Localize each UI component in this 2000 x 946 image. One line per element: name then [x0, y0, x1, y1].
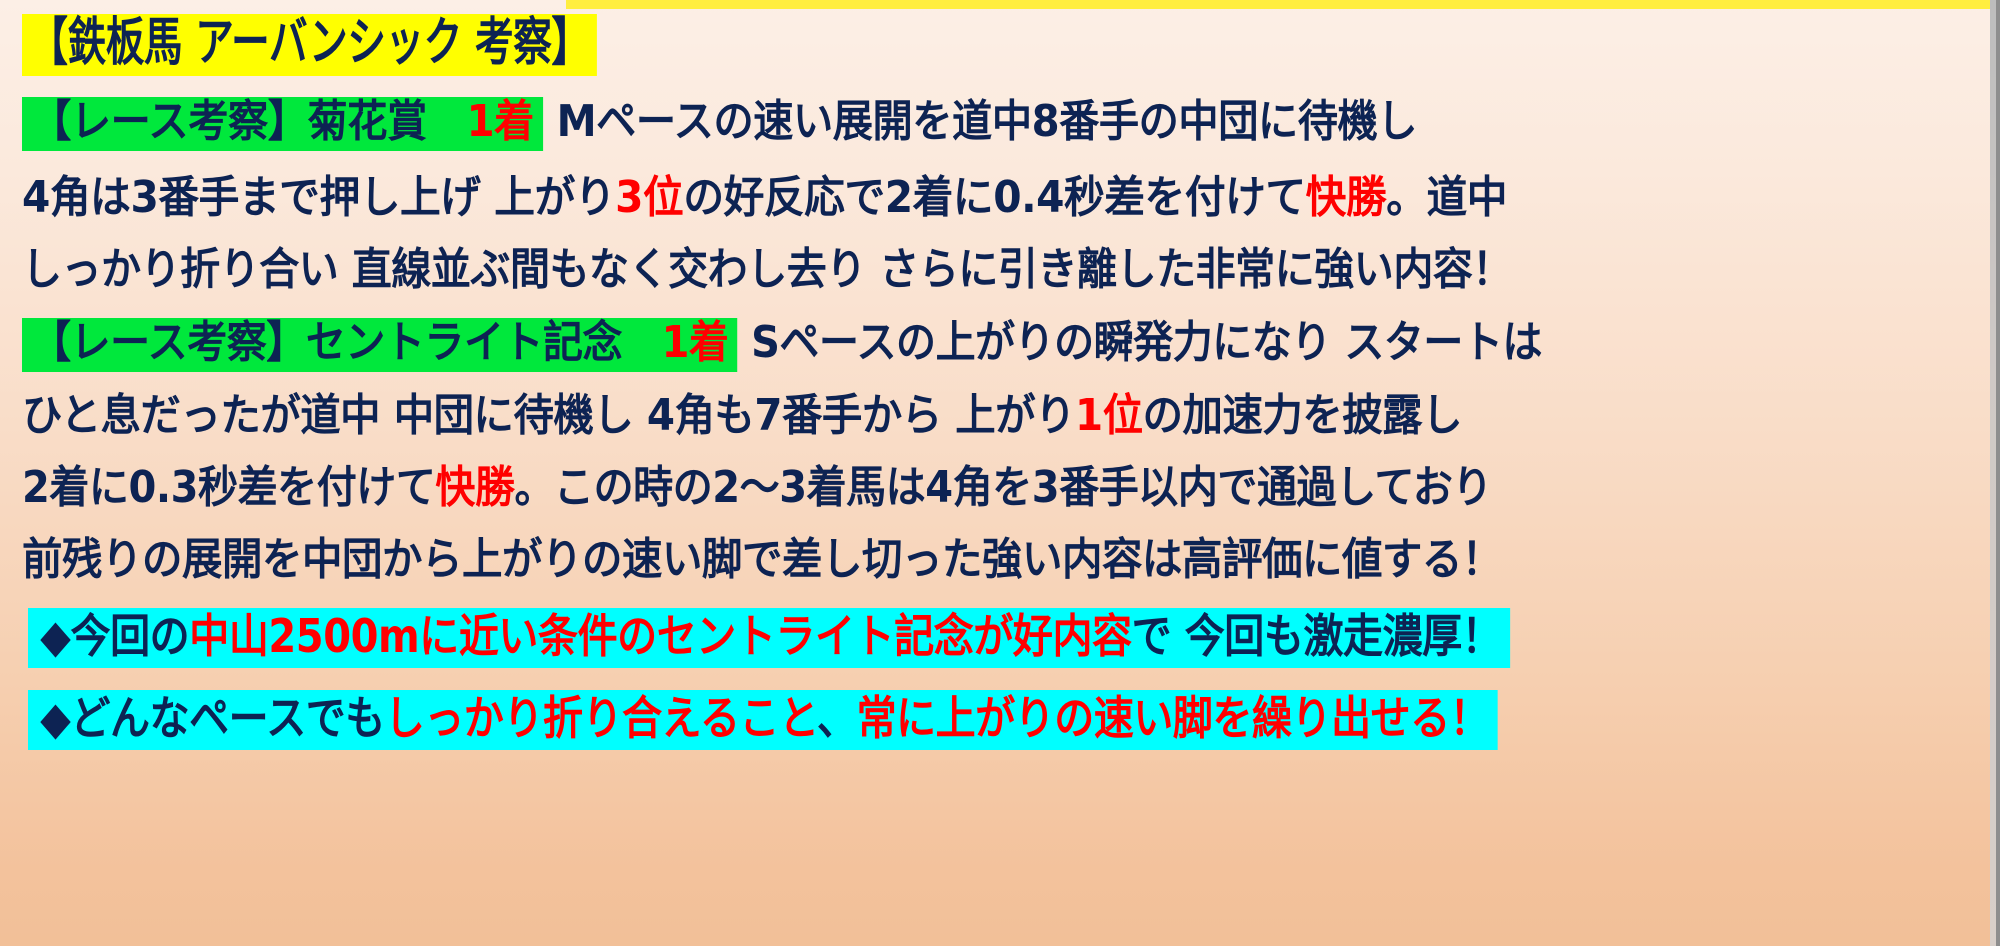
top-yellow-strip	[566, 0, 1990, 9]
race1-heading-highlight: 【レース考察】菊花賞 1着	[22, 97, 543, 151]
race2-heading-label: 【レース考察】セントライト記念	[31, 317, 662, 368]
race1-l2-b: の好反応で2着に0.4秒差を付けて	[683, 172, 1305, 223]
race2-heading-highlight: 【レース考察】セントライト記念 1着	[22, 318, 738, 372]
conclusion2-a: どんなペースでも	[70, 691, 384, 745]
conclusion2-b: しっかり折り合えること	[385, 691, 817, 745]
race2-heading-rank: 1着	[662, 317, 729, 368]
race1-l3: しっかり折り合い 直線並ぶ間もなく交わし去り さらに引き離した非常に強い内容！	[22, 244, 1512, 295]
race1-l2-win: 快勝	[1306, 172, 1387, 223]
race1-l2-c: 。道中	[1386, 172, 1507, 223]
race2-l2-rank: 1位	[1075, 390, 1143, 441]
title-highlight: 【鉄板馬 アーバンシック 考察】	[22, 14, 597, 76]
conclusion1-highlight: ◆今回の中山2500mに近い条件のセントライト記念が好内容で 今回も激走濃厚！	[28, 608, 1510, 668]
conclusion2-d: 常に上がりの速い脚を繰り出せる！	[857, 691, 1490, 745]
race1-heading-rank: 1着	[467, 96, 534, 147]
conclusion1-b: 中山2500mに近い条件のセントライト記念が好内容	[189, 609, 1131, 663]
diamond-marker-icon: ◆	[40, 609, 70, 663]
conclusion1-c: で 今回も激走濃厚！	[1132, 609, 1502, 663]
race2-heading-tail: Sペースの上がりの瞬発力になり スタートは	[738, 317, 1542, 368]
race1-heading-label: 【レース考察】菊花賞	[31, 96, 466, 147]
diamond-marker-icon-2: ◆	[40, 691, 70, 745]
race1-detail-line-2: しっかり折り合い 直線並ぶ間もなく交わし去り さらに引き離した非常に強い内容！	[22, 248, 1512, 292]
race2-heading-line: 【レース考察】セントライト記念 1着 Sペースの上がりの瞬発力になり スタートは	[22, 318, 1542, 372]
race2-detail-line-2: 2着に0.3秒差を付けて快勝。この時の2〜3着馬は4角を3番手以内で通過しており	[22, 466, 1492, 510]
race2-l3-b: 。この時の2〜3着馬は4角を3番手以内で通過しており	[514, 462, 1491, 513]
race1-heading-line: 【レース考察】菊花賞 1着 Mペースの速い展開を道中8番手の中団に待機し	[22, 97, 1417, 151]
race2-l2-a: ひと息だったが道中 中団に待機し 4角も7番手から 上がり	[22, 390, 1075, 441]
race2-detail-line-3: 前残りの展開を中団から上がりの速い脚で差し切った強い内容は高評価に値する！	[22, 538, 1502, 582]
race2-l2-b: の加速力を披露し	[1143, 390, 1462, 441]
poster-root: 【鉄板馬 アーバンシック 考察】 【レース考察】菊花賞 1着 Mペースの速い展開…	[0, 0, 2000, 946]
title-line: 【鉄板馬 アーバンシック 考察】	[22, 14, 597, 76]
conclusion1-a: 今回の	[71, 609, 190, 663]
conclusion2-c: 、	[817, 691, 857, 745]
conclusion-line-1: ◆今回の中山2500mに近い条件のセントライト記念が好内容で 今回も激走濃厚！	[28, 608, 1510, 668]
conclusion-line-2: ◆どんなペースでもしっかり折り合えること、常に上がりの速い脚を繰り出せる！	[28, 690, 1498, 750]
race2-detail-line-1: ひと息だったが道中 中団に待機し 4角も7番手から 上がり1位の加速力を披露し	[22, 394, 1462, 438]
title-text: 【鉄板馬 アーバンシック 考察】	[29, 13, 589, 73]
race2-l3-a: 2着に0.3秒差を付けて	[22, 462, 435, 513]
race1-l2-rank: 3位	[615, 172, 683, 223]
race2-l3-win: 快勝	[435, 462, 514, 513]
right-gray-edge	[1996, 0, 2000, 946]
race1-l2-a: 4角は3番手まで押し上げ 上がり	[22, 172, 615, 223]
conclusion2-highlight: ◆どんなペースでもしっかり折り合えること、常に上がりの速い脚を繰り出せる！	[28, 690, 1498, 750]
race1-heading-tail: Mペースの速い展開を道中8番手の中団に待機し	[543, 96, 1417, 147]
race1-detail-line-1: 4角は3番手まで押し上げ 上がり3位の好反応で2着に0.4秒差を付けて快勝。道中	[22, 176, 1507, 220]
race2-l4: 前残りの展開を中団から上がりの速い脚で差し切った強い内容は高評価に値する！	[22, 534, 1502, 585]
